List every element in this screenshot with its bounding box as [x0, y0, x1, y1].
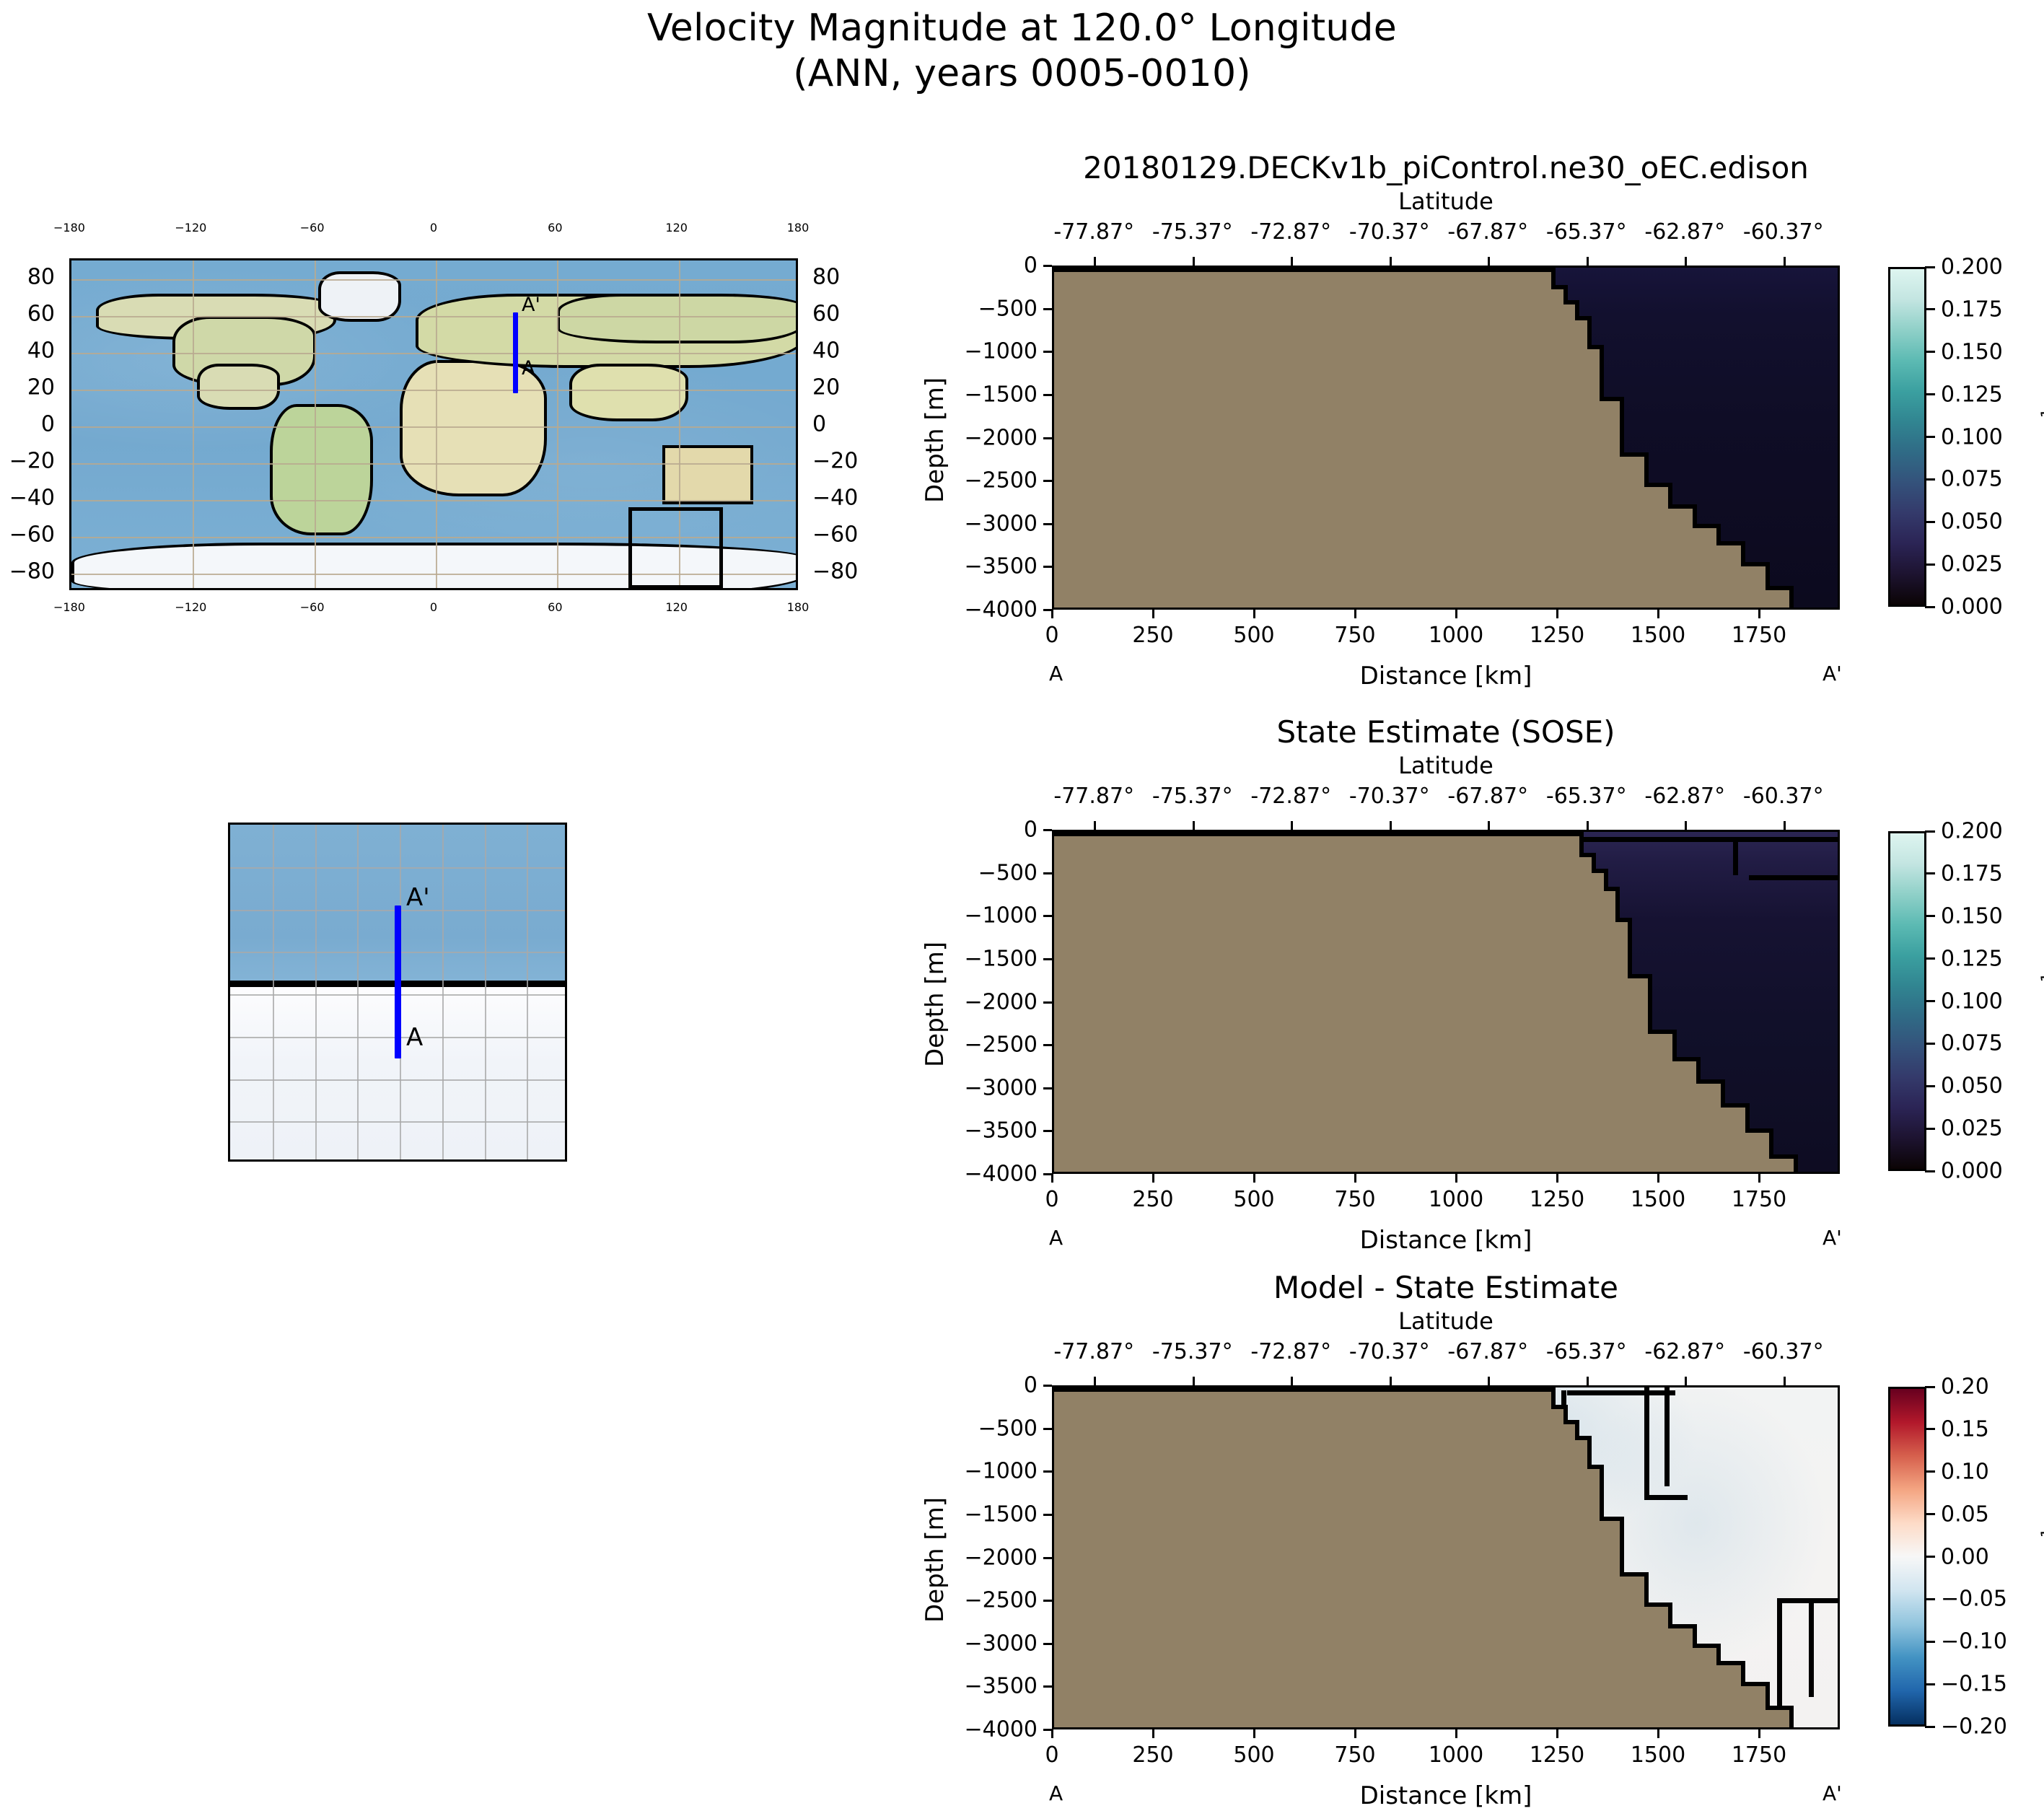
- figure-title-line2: (ANN, years 0005-0010): [0, 51, 2044, 97]
- panel-depth-tick-sose: −4000: [965, 1162, 1038, 1187]
- panel-depth-tick-difference: −1500: [965, 1501, 1038, 1527]
- colorbar-tick-label-difference: 0.05: [1941, 1501, 1989, 1527]
- panel-distance-tickmark-difference: [1657, 1729, 1659, 1738]
- panel-lat-tickmark-model: [1094, 257, 1096, 266]
- colorbar-tick-label-sose: 0.175: [1941, 861, 2003, 886]
- panel-title-difference: Model - State Estimate: [1052, 1270, 1840, 1305]
- map-lat-tick-label: −80: [9, 559, 55, 584]
- map-lon-tick-label: 120: [665, 600, 688, 614]
- panel-seafloor-line-model: [1766, 586, 1790, 590]
- map-graticule-meridian: [193, 260, 194, 588]
- regional-inset-map[interactable]: A' A: [228, 823, 567, 1162]
- inset-transect-label-end: A': [406, 885, 430, 910]
- map-transect-label-start: A: [522, 359, 535, 378]
- panel-bathymetry-step-model: [1693, 524, 1717, 610]
- map-landmass: [197, 364, 280, 410]
- panel-contour-difference: [1644, 1387, 1649, 1495]
- panel-lat-tick-model: -72.87°: [1250, 219, 1331, 245]
- map-graticule-parallel: [71, 353, 796, 354]
- map-transect-line: [513, 312, 518, 393]
- panel-distance-tickmark-model: [1152, 610, 1154, 618]
- panel-lat-tickmark-model: [1784, 257, 1786, 266]
- map-landmass: [557, 294, 798, 343]
- panel-lat-tickmark-sose: [1193, 821, 1195, 830]
- panel-depth-tick-model: 0: [1024, 253, 1038, 279]
- colorbar-tickmark-sose: [1925, 830, 1935, 833]
- colorbar-tick-label-sose: 0.125: [1941, 946, 2003, 971]
- panel-lat-tickmark-model: [1587, 257, 1589, 266]
- map-lon-tick-label: 0: [430, 600, 437, 614]
- panel-seafloor-line-sose: [1745, 1103, 1750, 1129]
- panel-lat-tick-sose: -77.87°: [1053, 784, 1134, 809]
- colorbar-tickmark-difference: [1925, 1470, 1935, 1473]
- panel-lat-tickmark-model: [1685, 257, 1687, 266]
- panel-bathymetry-step-model: [1563, 300, 1576, 610]
- panel-lat-tickmark-difference: [1291, 1377, 1293, 1385]
- panel-depth-tick-sose: −3000: [965, 1075, 1038, 1100]
- panel-seafloor-line-model: [1741, 562, 1766, 566]
- panel-bathymetry-step-sose: [1672, 1057, 1697, 1174]
- panel-depth-tickmark-difference: [1043, 1428, 1052, 1430]
- panel-depth-tick-sose: −2000: [965, 989, 1038, 1014]
- panel-seafloor-line-model: [1766, 562, 1770, 586]
- panel-depth-tick-model: −1000: [965, 339, 1038, 364]
- panel-bathymetry-step-difference: [1620, 1572, 1644, 1729]
- colorbar-tickmark-sose: [1925, 1170, 1935, 1172]
- panel-axes-difference[interactable]: [1052, 1385, 1840, 1729]
- colorbar-model[interactable]: [1888, 267, 1926, 607]
- panel-depth-tick-model: −1500: [965, 382, 1038, 407]
- panel-seafloor-line-difference: [1054, 1387, 1551, 1392]
- colorbar-tick-label-model: 0.150: [1941, 339, 2003, 364]
- panel-depth-tick-difference: −3500: [965, 1674, 1038, 1699]
- panel-axes-model[interactable]: [1052, 266, 1840, 610]
- panel-distance-tick-model: 1250: [1530, 623, 1584, 648]
- panel-seafloor-line-difference: [1600, 1465, 1604, 1517]
- colorbar-tick-label-sose: 0.150: [1941, 903, 2003, 929]
- colorbar-tick-label-sose: 0.000: [1941, 1159, 2003, 1184]
- panel-seafloor-line-sose: [1648, 1030, 1672, 1034]
- map-lon-tick-label: −120: [175, 221, 206, 234]
- panel-lat-tick-sose: -72.87°: [1250, 784, 1331, 809]
- panel-depth-tick-sose: −500: [978, 860, 1038, 885]
- inset-graticule-meridian: [527, 825, 528, 1159]
- panel-seafloor-line-model: [1644, 483, 1669, 487]
- panel-lat-tickmark-sose: [1094, 821, 1096, 830]
- panel-distance-tickmark-model: [1253, 610, 1255, 618]
- panel-lat-tick-sose: -60.37°: [1743, 784, 1824, 809]
- map-graticule-parallel: [71, 390, 796, 391]
- panel-seafloor-line-difference: [1693, 1644, 1717, 1648]
- panel-contour-sose: [1749, 875, 1840, 880]
- map-lat-tick-label: 0: [812, 412, 826, 437]
- colorbar-tickmark-difference: [1925, 1556, 1935, 1558]
- panel-seafloor-line-model: [1575, 300, 1579, 315]
- panel-ylabel-difference: Depth [m]: [921, 1496, 949, 1622]
- colorbar-tickmark-sose: [1925, 915, 1935, 917]
- map-landmass: [270, 404, 373, 535]
- panel-seafloor-line-difference: [1575, 1420, 1579, 1435]
- panel-seafloor-line-sose: [1721, 1079, 1725, 1102]
- colorbar-tick-label-model: 0.000: [1941, 595, 2003, 620]
- colorbar-tickmark-sose: [1925, 872, 1935, 874]
- panel-seafloor-line-model: [1789, 586, 1794, 610]
- panel-seafloor-line-model: [1693, 504, 1697, 524]
- panel-depth-tickmark-sose: [1043, 1001, 1052, 1004]
- panel-seafloor-line-sose: [1672, 1030, 1677, 1057]
- panel-seafloor-line-sose: [1054, 832, 1579, 836]
- map-lat-tick-label: −40: [812, 486, 858, 511]
- panel-bathymetry-step-difference: [1644, 1602, 1669, 1729]
- colorbar-tickmark-difference: [1925, 1641, 1935, 1643]
- panel-seafloor-line-difference: [1575, 1436, 1587, 1440]
- panel-axes-sose[interactable]: [1052, 830, 1840, 1174]
- panel-contour-difference: [1664, 1387, 1670, 1486]
- map-lat-tick-label: 60: [812, 301, 840, 326]
- map-lat-tick-label: 20: [812, 374, 840, 400]
- panel-seafloor-line-model: [1054, 268, 1551, 272]
- panel-seafloor-line-model: [1741, 541, 1745, 562]
- panel-lat-tick-model: -75.37°: [1152, 219, 1233, 245]
- panel-lat-tick-difference: -62.87°: [1644, 1339, 1725, 1364]
- panel-seafloor-line-sose: [1648, 974, 1652, 1030]
- colorbar-tick-label-difference: 0.20: [1941, 1374, 1989, 1400]
- map-lat-tick-label: 20: [27, 374, 55, 400]
- map-lon-tick-label: 120: [665, 221, 688, 234]
- panel-seafloor-line-sose: [1615, 887, 1620, 918]
- panel-lat-tickmark-sose: [1784, 821, 1786, 830]
- colorbar-tickmark-sose: [1925, 957, 1935, 960]
- colorbar-unit-model: m s⁻¹: [2036, 408, 2044, 472]
- figure-title-line1: Velocity Magnitude at 120.0° Longitude: [0, 6, 2044, 51]
- colorbar-difference[interactable]: [1888, 1387, 1926, 1727]
- colorbar-tickmark-difference: [1925, 1386, 1935, 1388]
- inset-graticule-meridian: [357, 825, 359, 1159]
- panel-bathymetry-step-difference: [1600, 1517, 1620, 1729]
- panel-seafloor-line-sose: [1604, 887, 1616, 891]
- panel-lat-tick-difference: -65.37°: [1546, 1339, 1627, 1364]
- map-lat-tick-label: 40: [27, 338, 55, 363]
- panel-distance-tickmark-model: [1556, 610, 1558, 618]
- panel-bathymetry-step-difference: [1563, 1420, 1576, 1729]
- inset-graticule-meridian: [442, 825, 444, 1159]
- colorbar-tickmark-sose: [1925, 1000, 1935, 1002]
- colorbar-tick-label-model: 0.175: [1941, 297, 2003, 322]
- panel-bathymetry-step-sose: [1615, 918, 1628, 1174]
- colorbar-tick-label-difference: −0.10: [1941, 1629, 2007, 1654]
- panel-distance-tickmark-sose: [1051, 1174, 1053, 1183]
- figure-title: Velocity Magnitude at 120.0° Longitude (…: [0, 6, 2044, 97]
- map-lat-tick-label: 0: [41, 412, 55, 437]
- map-graticule-parallel: [71, 500, 796, 501]
- colorbar-tick-label-model: 0.200: [1941, 255, 2003, 280]
- map-zoom-box[interactable]: [628, 507, 724, 588]
- colorbar-sose[interactable]: [1888, 831, 1926, 1171]
- inset-graticule-parallel: [230, 867, 565, 869]
- panel-distance-tickmark-sose: [1556, 1174, 1558, 1183]
- panel-top-axis-label-model: Latitude: [1052, 188, 1840, 215]
- colorbar-tick-label-model: 0.100: [1941, 424, 2003, 450]
- panel-seafloor-line-model: [1575, 316, 1587, 320]
- panel-bathymetry-step-model: [1551, 285, 1563, 610]
- panel-depth-tickmark-model: [1043, 480, 1052, 482]
- panel-depth-tickmark-model: [1043, 566, 1052, 568]
- panel-top-axis-label-difference: Latitude: [1052, 1307, 1840, 1335]
- panel-bathymetry-step-sose: [1054, 832, 1579, 1174]
- map-graticule-meridian: [315, 260, 316, 588]
- map-landmass: [400, 360, 547, 496]
- colorbar-tick-label-difference: −0.15: [1941, 1672, 2007, 1697]
- panel-lat-tick-model: -60.37°: [1743, 219, 1824, 245]
- panel-distance-tick-model: 250: [1132, 623, 1173, 648]
- panel-bathymetry-step-model: [1716, 541, 1741, 610]
- panel-lat-tickmark-difference: [1587, 1377, 1589, 1385]
- panel-seafloor-line-model: [1620, 397, 1624, 453]
- panel-distance-tick-sose: 0: [1045, 1187, 1058, 1212]
- panel-bathymetry-step-model: [1054, 268, 1551, 610]
- map-landmass: [569, 364, 688, 421]
- panel-lat-tickmark-difference: [1390, 1377, 1392, 1385]
- panel-depth-tickmark-difference: [1043, 1685, 1052, 1688]
- panel-distance-tick-sose: 1000: [1429, 1187, 1483, 1212]
- panel-distance-tickmark-difference: [1051, 1729, 1053, 1738]
- panel-distance-tickmark-difference: [1354, 1729, 1356, 1738]
- panel-depth-tick-difference: −500: [978, 1416, 1038, 1441]
- panel-bathymetry-step-difference: [1054, 1387, 1551, 1729]
- panel-endpoint-end-model: A': [1823, 662, 1842, 685]
- colorbar-tickmark-sose: [1925, 1128, 1935, 1130]
- colorbar-tick-label-model: 0.075: [1941, 467, 2003, 492]
- colorbar-tickmark-model: [1925, 564, 1935, 566]
- panel-bathymetry-step-difference: [1668, 1624, 1693, 1729]
- panel-seafloor-line-difference: [1587, 1436, 1592, 1465]
- panel-depth-tickmark-model: [1043, 351, 1052, 353]
- map-lat-tick-label: 60: [27, 301, 55, 326]
- colorbar-tickmark-model: [1925, 521, 1935, 523]
- panel-lat-tick-difference: -72.87°: [1250, 1339, 1331, 1364]
- panel-contour-difference: [1567, 1390, 1675, 1395]
- panel-depth-tick-difference: −3000: [965, 1631, 1038, 1656]
- panel-bathymetry-step-sose: [1721, 1103, 1745, 1174]
- panel-seafloor-line-difference: [1741, 1682, 1766, 1686]
- panel-top-axis-label-sose: Latitude: [1052, 752, 1840, 779]
- map-lon-tick-label: 0: [430, 221, 437, 234]
- map-lat-tick-label: −60: [9, 522, 55, 548]
- panel-depth-tick-sose: −1500: [965, 946, 1038, 971]
- panel-bathymetry-step-difference: [1575, 1436, 1587, 1729]
- inset-graticule-meridian: [315, 825, 317, 1159]
- inset-transect-label-start: A: [406, 1025, 423, 1050]
- panel-bathymetry-step-model: [1587, 345, 1600, 610]
- panel-seafloor-line-difference: [1620, 1572, 1644, 1577]
- panel-seafloor-line-difference: [1789, 1706, 1794, 1729]
- panel-lat-tick-sose: -75.37°: [1152, 784, 1233, 809]
- panel-depth-tickmark-difference: [1043, 1470, 1052, 1473]
- panel-depth-tickmark-difference: [1043, 1643, 1052, 1645]
- panel-lat-tickmark-sose: [1587, 821, 1589, 830]
- panel-seafloor-line-difference: [1644, 1602, 1669, 1607]
- panel-seafloor-line-difference: [1551, 1387, 1556, 1405]
- panel-distance-tickmark-sose: [1758, 1174, 1760, 1183]
- panel-distance-tickmark-difference: [1455, 1729, 1457, 1738]
- panel-xlabel-model: Distance [km]: [1052, 662, 1840, 690]
- map-lon-tick-label: 180: [787, 221, 810, 234]
- panel-seafloor-line-sose: [1628, 918, 1632, 974]
- colorbar-tickmark-difference: [1925, 1683, 1935, 1685]
- panel-distance-tickmark-sose: [1354, 1174, 1356, 1183]
- panel-seafloor-line-sose: [1615, 918, 1628, 922]
- panel-seafloor-line-difference: [1587, 1465, 1600, 1469]
- panel-depth-tick-difference: 0: [1024, 1373, 1038, 1398]
- panel-distance-tick-sose: 500: [1233, 1187, 1274, 1212]
- panel-depth-tick-model: −3000: [965, 511, 1038, 536]
- panel-seafloor-line-sose: [1696, 1079, 1721, 1084]
- panel-distance-tick-difference: 1000: [1429, 1742, 1483, 1768]
- colorbar-tick-label-sose: 0.025: [1941, 1116, 2003, 1141]
- colorbar-tick-label-difference: −0.05: [1941, 1587, 2007, 1612]
- panel-depth-tickmark-model: [1043, 265, 1052, 267]
- map-lat-tick-label: 80: [27, 264, 55, 289]
- panel-lat-tick-model: -77.87°: [1053, 219, 1134, 245]
- panel-depth-tickmark-model: [1043, 437, 1052, 439]
- panel-contour-sose: [1575, 837, 1840, 842]
- panel-seafloor-line-model: [1693, 524, 1717, 528]
- map-lon-tick-label: 180: [787, 600, 810, 614]
- panel-seafloor-line-sose: [1696, 1057, 1701, 1079]
- colorbar-tick-label-sose: 0.050: [1941, 1074, 2003, 1099]
- panel-distance-tickmark-sose: [1152, 1174, 1154, 1183]
- panel-lat-tickmark-sose: [1685, 821, 1687, 830]
- panel-seafloor-line-sose: [1592, 869, 1604, 873]
- panel-seafloor-line-sose: [1721, 1103, 1745, 1108]
- panel-lat-tickmark-model: [1488, 257, 1490, 266]
- panel-depth-tick-model: −500: [978, 296, 1038, 321]
- map-lon-tick-label: −60: [300, 600, 325, 614]
- panel-seafloor-line-sose: [1672, 1057, 1697, 1061]
- colorbar-tickmark-model: [1925, 308, 1935, 310]
- colorbar-tickmark-sose: [1925, 1043, 1935, 1045]
- map-lat-tick-label: 80: [812, 264, 840, 289]
- panel-distance-tickmark-model: [1051, 610, 1053, 618]
- panel-bathymetry-step-difference: [1716, 1661, 1741, 1729]
- panel-lat-tickmark-model: [1193, 257, 1195, 266]
- colorbar-tick-label-model: 0.125: [1941, 382, 2003, 407]
- panel-depth-tickmark-sose: [1043, 958, 1052, 960]
- panel-distance-tick-difference: 750: [1334, 1742, 1375, 1768]
- panel-depth-tickmark-sose: [1043, 1044, 1052, 1046]
- panel-endpoint-start-difference: A: [1049, 1781, 1063, 1805]
- inset-transect-line: [395, 905, 401, 1058]
- panel-bathymetry-step-model: [1668, 504, 1693, 610]
- panel-seafloor-line-model: [1587, 316, 1592, 346]
- panel-depth-tickmark-difference: [1043, 1514, 1052, 1516]
- panel-endpoint-start-model: A: [1049, 662, 1063, 685]
- panel-distance-tick-difference: 250: [1132, 1742, 1173, 1768]
- panel-distance-tickmark-sose: [1455, 1174, 1457, 1183]
- panel-lat-tick-model: -67.87°: [1447, 219, 1528, 245]
- panel-distance-tick-sose: 750: [1334, 1187, 1375, 1212]
- map-lon-ticks-bottom: −180−120−60060120180: [69, 600, 798, 629]
- panel-bathymetry-step-sose: [1604, 887, 1616, 1174]
- panel-bathymetry-step-sose: [1696, 1079, 1721, 1174]
- map-graticule-parallel: [71, 426, 796, 428]
- panel-seafloor-line-sose: [1745, 1128, 1770, 1133]
- panel-seafloor-line-difference: [1766, 1706, 1790, 1710]
- panel-endpoint-end-difference: A': [1823, 1781, 1842, 1805]
- inset-graticule-meridian: [273, 825, 274, 1159]
- map-lon-tick-label: −60: [300, 221, 325, 234]
- panel-distance-tick-sose: 1750: [1732, 1187, 1786, 1212]
- panel-lat-tick-difference: -70.37°: [1349, 1339, 1430, 1364]
- world-locator-map[interactable]: A' A: [69, 258, 798, 590]
- panel-seafloor-line-difference: [1766, 1682, 1770, 1706]
- map-graticule-meridian: [436, 260, 437, 588]
- panel-distance-tickmark-difference: [1556, 1729, 1558, 1738]
- panel-depth-tick-difference: −2500: [965, 1588, 1038, 1613]
- panel-bathymetry-step-sose: [1648, 1030, 1672, 1174]
- panel-ylabel-model: Depth [m]: [921, 377, 949, 502]
- panel-seafloor-line-difference: [1668, 1624, 1693, 1628]
- panel-seafloor-line-sose: [1579, 853, 1592, 857]
- panel-depth-tick-sose: 0: [1024, 817, 1038, 843]
- panel-distance-tick-sose: 1500: [1631, 1187, 1685, 1212]
- panel-seafloor-line-difference: [1716, 1644, 1721, 1661]
- panel-depth-tickmark-model: [1043, 523, 1052, 525]
- panel-depth-tickmark-sose: [1043, 1130, 1052, 1132]
- panel-bathymetry-step-model: [1644, 483, 1669, 610]
- panel-lat-tick-difference: -67.87°: [1447, 1339, 1528, 1364]
- panel-lat-tick-model: -62.87°: [1644, 219, 1725, 245]
- panel-lat-tick-difference: -60.37°: [1743, 1339, 1824, 1364]
- inset-graticule-parallel: [230, 1121, 565, 1123]
- panel-seafloor-line-sose: [1579, 832, 1584, 853]
- panel-seafloor-line-model: [1551, 268, 1556, 285]
- panel-depth-tick-model: −3500: [965, 554, 1038, 579]
- panel-distance-tickmark-model: [1354, 610, 1356, 618]
- panel-seafloor-line-model: [1587, 345, 1600, 349]
- panel-seafloor-line-difference: [1693, 1624, 1697, 1644]
- panel-seafloor-line-model: [1563, 285, 1568, 300]
- colorbar-tickmark-model: [1925, 393, 1935, 395]
- panel-depth-tick-sose: −1000: [965, 903, 1038, 929]
- panel-seafloor-line-sose: [1769, 1128, 1773, 1154]
- panel-lat-tickmark-model: [1291, 257, 1293, 266]
- panel-bathymetry-step-difference: [1551, 1405, 1563, 1729]
- panel-depth-tickmark-difference: [1043, 1557, 1052, 1559]
- panel-depth-tick-difference: −4000: [965, 1717, 1038, 1742]
- panel-contour-difference: [1644, 1495, 1688, 1500]
- panel-bathymetry-step-sose: [1745, 1128, 1770, 1174]
- panel-lat-tick-model: -70.37°: [1349, 219, 1430, 245]
- panel-distance-tickmark-sose: [1253, 1174, 1255, 1183]
- panel-seafloor-line-sose: [1604, 869, 1608, 887]
- panel-distance-tickmark-sose: [1657, 1174, 1659, 1183]
- colorbar-tick-label-difference: 0.15: [1941, 1416, 1989, 1442]
- colorbar-tickmark-model: [1925, 266, 1935, 268]
- panel-seafloor-line-model: [1716, 541, 1741, 545]
- colorbar-tickmark-model: [1925, 478, 1935, 481]
- colorbar-tick-label-difference: −0.20: [1941, 1714, 2007, 1740]
- panel-depth-tickmark-difference: [1043, 1600, 1052, 1602]
- map-landmass: [662, 445, 753, 504]
- map-lon-tick-label: 60: [548, 600, 562, 614]
- map-lon-tick-label: −180: [53, 221, 85, 234]
- panel-depth-tickmark-difference: [1043, 1385, 1052, 1387]
- map-transect-label-end: A': [522, 295, 540, 315]
- panel-depth-tickmark-sose: [1043, 1087, 1052, 1089]
- panel-distance-tickmark-model: [1455, 610, 1457, 618]
- panel-distance-tick-difference: 1250: [1530, 1742, 1584, 1768]
